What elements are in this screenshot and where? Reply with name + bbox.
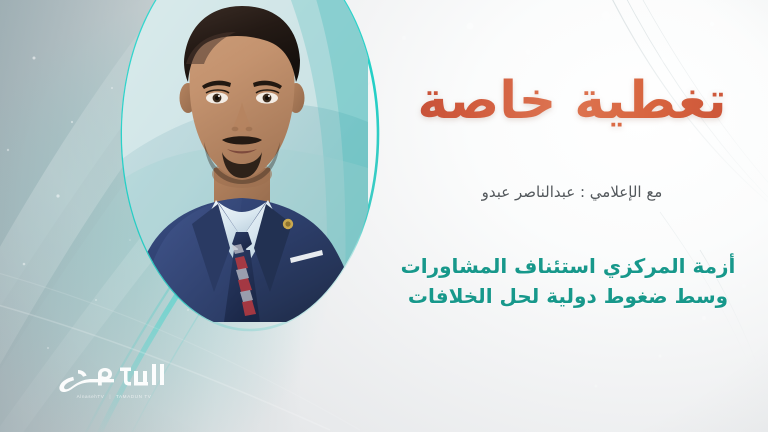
channel-logo: AlnasehTV | TAMADUN TV [48, 358, 180, 404]
presenter-credit: مع الإعلامي : عبدالناصر عبدو [386, 183, 758, 201]
logo-separator: | [109, 394, 111, 399]
channel-logo-mark [48, 358, 180, 392]
broadcast-graphic: تغطية خاصة مع الإعلامي : عبدالناصر عبدو … [0, 0, 768, 432]
news-headline: أزمة المركزي استئناف المشاورات وسط ضغوط … [372, 252, 764, 311]
headline-line-2: وسط ضغوط دولية لحل الخلافات [372, 282, 764, 312]
program-title: تغطية خاصة [386, 74, 758, 129]
logo-handle-left: AlnasehTV [77, 394, 105, 399]
logo-handle-right: TAMADUN TV [116, 394, 151, 399]
channel-logo-tagline: AlnasehTV | TAMADUN TV [48, 394, 180, 399]
headline-line-1: أزمة المركزي استئناف المشاورات [372, 252, 764, 282]
